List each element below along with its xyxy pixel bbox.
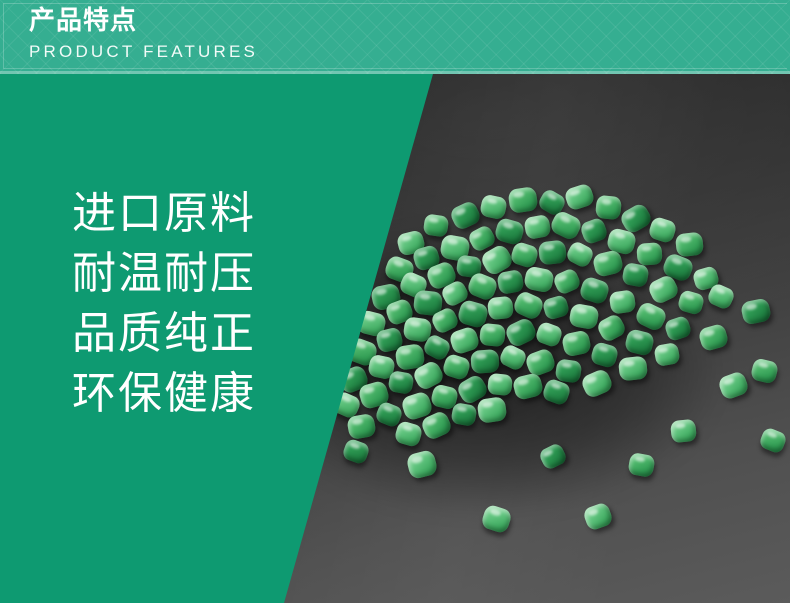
plastic-pellet [487,373,513,396]
product-features-banner: 产品特点 PRODUCT FEATURES 进口原料 耐温耐压 品质纯正 环保健… [0,0,790,603]
plastic-pellet [618,356,648,382]
plastic-pellet [555,358,583,383]
page-title-english: PRODUCT FEATURES [29,39,258,65]
plastic-pellet [636,242,662,266]
plastic-pellet [538,240,567,266]
feature-text-block: 进口原料 耐温耐压 品质纯正 环保健康 [72,184,282,424]
plastic-pellet [479,323,506,347]
plastic-pellet [470,349,500,374]
plastic-pellet [487,296,514,320]
feature-line-1: 进口原料 [72,184,282,244]
feature-line-3: 品质纯正 [72,304,282,364]
plastic-pellet [423,213,450,237]
page-title-chinese: 产品特点 [29,6,258,36]
plastic-pellet [670,419,697,443]
header-band: 产品特点 PRODUCT FEATURES [0,0,790,74]
feature-line-2: 耐温耐压 [72,244,282,304]
plastic-pellet [675,232,704,258]
plastic-pellet [595,195,622,220]
feature-line-4: 环保健康 [72,364,282,424]
header-text-group: 产品特点 PRODUCT FEATURES [29,6,258,65]
